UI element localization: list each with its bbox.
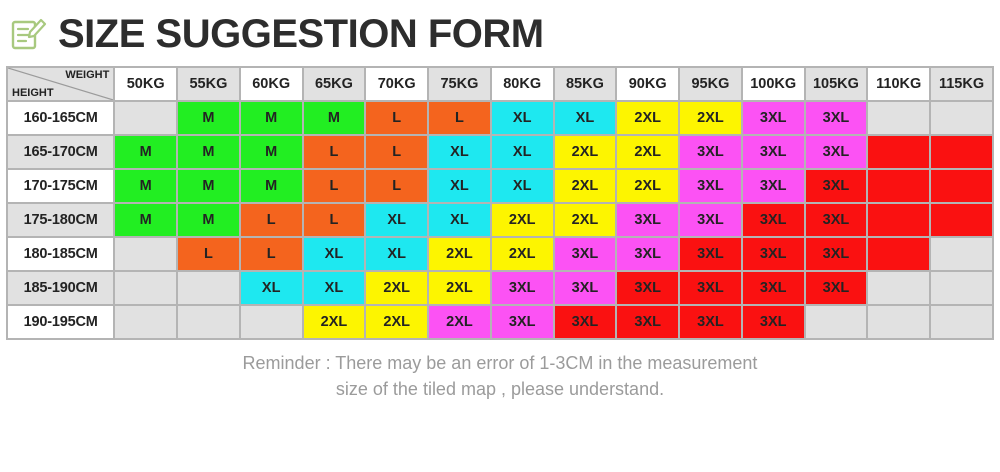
table-row: 180-185CMLLXLXL2XL2XL3XL3XL3XL3XL3XL <box>8 238 992 270</box>
size-cell: 2XL <box>555 204 616 236</box>
table-row: 165-170CMMMMLLXLXL2XL2XL3XL3XL3XL <box>8 136 992 168</box>
size-cell: 2XL <box>492 204 553 236</box>
size-cell: 3XL <box>555 238 616 270</box>
weight-column-header: 70KG <box>366 68 427 100</box>
size-cell-empty <box>931 204 992 236</box>
size-cell: 3XL <box>806 102 867 134</box>
size-cell-empty <box>868 136 929 168</box>
size-cell: 2XL <box>304 306 365 338</box>
page-header: SIZE SUGGESTION FORM <box>0 0 1000 58</box>
size-cell-empty <box>868 170 929 202</box>
size-cell: L <box>366 136 427 168</box>
size-cell: 3XL <box>743 136 804 168</box>
table-row: 170-175CMMMMLLXLXL2XL2XL3XL3XL3XL <box>8 170 992 202</box>
size-cell: 3XL <box>555 272 616 304</box>
size-cell: 2XL <box>366 272 427 304</box>
size-cell: 3XL <box>806 170 867 202</box>
weight-column-header: 95KG <box>680 68 741 100</box>
size-cell: 3XL <box>680 306 741 338</box>
size-cell: 3XL <box>680 170 741 202</box>
size-cell: 3XL <box>806 136 867 168</box>
weight-column-header: 75KG <box>429 68 490 100</box>
table-row: 160-165CMMMMLLXLXL2XL2XL3XL3XL <box>8 102 992 134</box>
size-cell: M <box>115 136 176 168</box>
size-cell: 3XL <box>806 204 867 236</box>
size-cell: XL <box>492 170 553 202</box>
size-suggestion-table: WEIGHTHEIGHT50KG55KG60KG65KG70KG75KG80KG… <box>6 66 994 340</box>
size-cell: 3XL <box>492 272 553 304</box>
size-cell: L <box>304 204 365 236</box>
size-cell-empty <box>868 204 929 236</box>
size-cell: L <box>241 238 302 270</box>
size-cell-empty <box>931 306 992 338</box>
size-cell: XL <box>492 136 553 168</box>
height-axis-label: HEIGHT <box>12 87 54 99</box>
size-cell: M <box>304 102 365 134</box>
size-cell-empty <box>931 136 992 168</box>
size-cell: 2XL <box>492 238 553 270</box>
size-cell-empty <box>868 102 929 134</box>
size-cell: 3XL <box>743 272 804 304</box>
weight-column-header: 100KG <box>743 68 804 100</box>
size-cell: M <box>115 170 176 202</box>
size-cell: L <box>366 170 427 202</box>
weight-column-header: 115KG <box>931 68 992 100</box>
size-cell: L <box>178 238 239 270</box>
size-cell: 2XL <box>429 306 490 338</box>
size-cell: 3XL <box>492 306 553 338</box>
size-cell: 3XL <box>743 238 804 270</box>
size-cell: 3XL <box>743 204 804 236</box>
size-cell: M <box>115 204 176 236</box>
size-cell: 2XL <box>555 170 616 202</box>
size-cell: 3XL <box>617 204 678 236</box>
size-cell: XL <box>366 238 427 270</box>
size-cell: 3XL <box>680 238 741 270</box>
size-cell: 3XL <box>806 238 867 270</box>
size-cell-empty <box>241 306 302 338</box>
size-table-container: WEIGHTHEIGHT50KG55KG60KG65KG70KG75KG80KG… <box>0 58 1000 340</box>
reminder-line-2: size of the tiled map , please understan… <box>0 376 1000 402</box>
weight-column-header: 50KG <box>115 68 176 100</box>
height-row-header: 180-185CM <box>8 238 113 270</box>
size-cell-empty <box>178 272 239 304</box>
size-cell: XL <box>429 170 490 202</box>
weight-column-header: 60KG <box>241 68 302 100</box>
weight-column-header: 85KG <box>555 68 616 100</box>
table-row: 185-190CMXLXL2XL2XL3XL3XL3XL3XL3XL3XL <box>8 272 992 304</box>
size-cell: 3XL <box>555 306 616 338</box>
weight-column-header: 65KG <box>304 68 365 100</box>
table-header-row: WEIGHTHEIGHT50KG55KG60KG65KG70KG75KG80KG… <box>8 68 992 100</box>
size-cell-empty <box>806 306 867 338</box>
size-cell: L <box>304 170 365 202</box>
size-cell-empty <box>115 306 176 338</box>
weight-axis-label: WEIGHT <box>65 69 109 81</box>
size-cell: 3XL <box>617 272 678 304</box>
size-cell-empty <box>115 102 176 134</box>
size-cell: 2XL <box>680 102 741 134</box>
size-cell: M <box>241 170 302 202</box>
size-cell: 3XL <box>680 272 741 304</box>
size-cell: 3XL <box>743 170 804 202</box>
size-cell: M <box>178 170 239 202</box>
size-cell: L <box>241 204 302 236</box>
size-cell: 2XL <box>617 170 678 202</box>
size-cell-empty <box>931 272 992 304</box>
reminder-line-1: Reminder : There may be an error of 1-3C… <box>0 350 1000 376</box>
reminder-footer: Reminder : There may be an error of 1-3C… <box>0 350 1000 402</box>
size-cell: 2XL <box>429 238 490 270</box>
size-cell: 3XL <box>806 272 867 304</box>
size-cell: 2XL <box>555 136 616 168</box>
size-cell: 2XL <box>617 102 678 134</box>
size-cell-empty <box>115 238 176 270</box>
size-cell-empty <box>931 238 992 270</box>
size-cell: M <box>241 136 302 168</box>
size-cell-empty <box>868 306 929 338</box>
size-cell: XL <box>366 204 427 236</box>
size-cell: M <box>178 136 239 168</box>
size-cell: 3XL <box>617 238 678 270</box>
size-cell: 2XL <box>366 306 427 338</box>
size-cell: XL <box>304 272 365 304</box>
size-cell: XL <box>304 238 365 270</box>
size-cell: XL <box>492 102 553 134</box>
size-cell: XL <box>429 204 490 236</box>
size-cell-empty <box>868 272 929 304</box>
size-cell: 2XL <box>617 136 678 168</box>
height-row-header: 170-175CM <box>8 170 113 202</box>
size-chart-page: SIZE SUGGESTION FORM WEIGHTHEIGHT50KG55K… <box>0 0 1000 472</box>
size-cell-empty <box>868 238 929 270</box>
height-row-header: 185-190CM <box>8 272 113 304</box>
size-cell: 3XL <box>680 204 741 236</box>
table-row: 190-195CM2XL2XL2XL3XL3XL3XL3XL3XL <box>8 306 992 338</box>
size-cell: L <box>429 102 490 134</box>
size-cell: M <box>178 204 239 236</box>
size-cell: M <box>241 102 302 134</box>
size-cell: 3XL <box>743 102 804 134</box>
weight-column-header: 55KG <box>178 68 239 100</box>
size-cell: M <box>178 102 239 134</box>
form-edit-icon <box>8 14 48 54</box>
size-cell: L <box>366 102 427 134</box>
weight-column-header: 80KG <box>492 68 553 100</box>
size-cell: L <box>304 136 365 168</box>
size-cell-empty <box>178 306 239 338</box>
height-row-header: 160-165CM <box>8 102 113 134</box>
page-title: SIZE SUGGESTION FORM <box>58 14 544 54</box>
size-cell: 2XL <box>429 272 490 304</box>
height-row-header: 165-170CM <box>8 136 113 168</box>
size-cell-empty <box>115 272 176 304</box>
size-cell: 3XL <box>617 306 678 338</box>
weight-column-header: 110KG <box>868 68 929 100</box>
weight-column-header: 90KG <box>617 68 678 100</box>
size-cell: XL <box>555 102 616 134</box>
size-cell: 3XL <box>743 306 804 338</box>
size-cell: XL <box>429 136 490 168</box>
height-row-header: 190-195CM <box>8 306 113 338</box>
table-row: 175-180CMMMLLXLXL2XL2XL3XL3XL3XL3XL <box>8 204 992 236</box>
weight-column-header: 105KG <box>806 68 867 100</box>
axis-corner-cell: WEIGHTHEIGHT <box>8 68 113 100</box>
size-cell-empty <box>931 102 992 134</box>
size-cell-empty <box>931 170 992 202</box>
height-row-header: 175-180CM <box>8 204 113 236</box>
size-cell: 3XL <box>680 136 741 168</box>
size-cell: XL <box>241 272 302 304</box>
